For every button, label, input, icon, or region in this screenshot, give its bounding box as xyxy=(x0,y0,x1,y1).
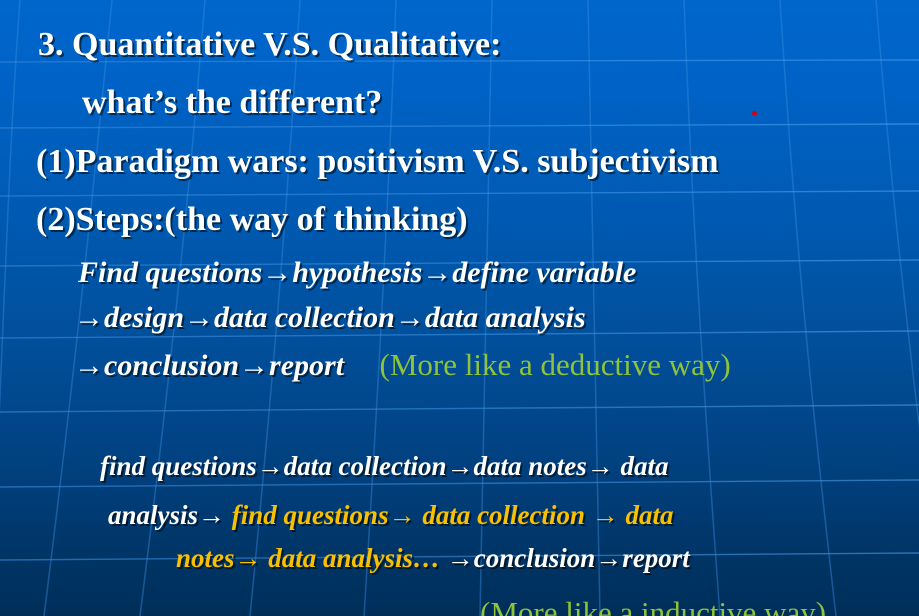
presentation-slide: 3. Quantitative V.S. Qualitative: what’s… xyxy=(0,0,919,616)
slide-heading-line1: 3. Quantitative V.S. Qualitative: xyxy=(38,28,501,62)
red-dot-marker xyxy=(752,111,757,116)
deductive-annotation: (More like a deductive way) xyxy=(380,347,731,382)
inductive-chain-line3: notes→ data analysis… →conclusion→report xyxy=(176,545,690,572)
inductive-annotation: (More like a inductive way) xyxy=(480,595,826,616)
deductive-chain-line3-text: →conclusion→report xyxy=(74,349,344,382)
inductive-chain-line1: find questions→data collection→data note… xyxy=(100,453,669,480)
bullet-point-1: (1)Paradigm wars: positivism V.S. subjec… xyxy=(36,145,719,179)
deductive-chain-line1: Find questions→hypothesis→define variabl… xyxy=(78,258,636,288)
inductive-chain-line3-white: →conclusion→report xyxy=(447,543,690,573)
bullet-point-2: (2)Steps:(the way of thinking) xyxy=(36,203,468,237)
slide-heading-line2: what’s the different? xyxy=(82,86,382,120)
inductive-chain-line2-white: analysis→ xyxy=(108,500,232,530)
deductive-chain-line3: →conclusion→report (More like a deductiv… xyxy=(74,349,731,381)
inductive-chain-line2-gold: find questions→ data collection → data xyxy=(232,500,674,530)
inductive-annotation-text: (More like a inductive way) xyxy=(480,595,826,616)
inductive-chain-line3-gold: notes→ data analysis… xyxy=(176,543,447,573)
deductive-chain-line2: →design→data collection→data analysis xyxy=(74,303,586,333)
inductive-chain-line2: analysis→ find questions→ data collectio… xyxy=(108,502,674,529)
